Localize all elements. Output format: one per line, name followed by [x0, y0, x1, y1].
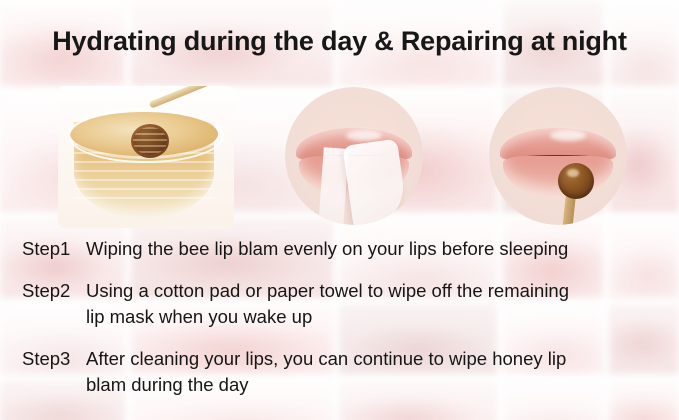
step-item: Step3 After cleaning your lips, you can …	[0, 346, 679, 398]
step-label: Step1	[22, 236, 86, 262]
product-instruction-infographic: Hydrating during the day & Repairing at …	[0, 0, 679, 420]
lip-gloss-highlight	[346, 130, 382, 141]
step-text-line: After cleaning your lips, you can contin…	[86, 346, 665, 372]
step-label: Step2	[22, 278, 86, 304]
honey-dipper-head-icon	[558, 163, 594, 199]
honey-dipper-head-icon	[131, 124, 169, 158]
step-item: Step2 Using a cotton pad or paper towel …	[0, 278, 679, 330]
step-label: Step3	[22, 346, 86, 372]
step-text-line: Wiping the bee lip blam evenly on your l…	[86, 236, 665, 262]
step-text-line: blam during the day	[86, 372, 665, 398]
lip-gloss-highlight	[550, 130, 586, 141]
step-text: After cleaning your lips, you can contin…	[86, 346, 679, 398]
honey-bowl-photo	[58, 86, 234, 228]
step-text: Wiping the bee lip blam evenly on your l…	[86, 236, 679, 262]
page-title: Hydrating during the day & Repairing at …	[0, 26, 679, 57]
lips-honey-dipper-photo	[489, 87, 627, 225]
lips-cotton-pad-photo	[285, 87, 423, 225]
steps-list: Step1 Wiping the bee lip blam evenly on …	[0, 236, 679, 414]
step-text: Using a cotton pad or paper towel to wip…	[86, 278, 679, 330]
step-text-line: Using a cotton pad or paper towel to wip…	[86, 278, 665, 304]
photo-row	[0, 82, 679, 230]
step-text-line: lip mask when you wake up	[86, 304, 665, 330]
step-item: Step1 Wiping the bee lip blam evenly on …	[0, 236, 679, 262]
honey-dipper-handle-icon	[149, 86, 224, 109]
